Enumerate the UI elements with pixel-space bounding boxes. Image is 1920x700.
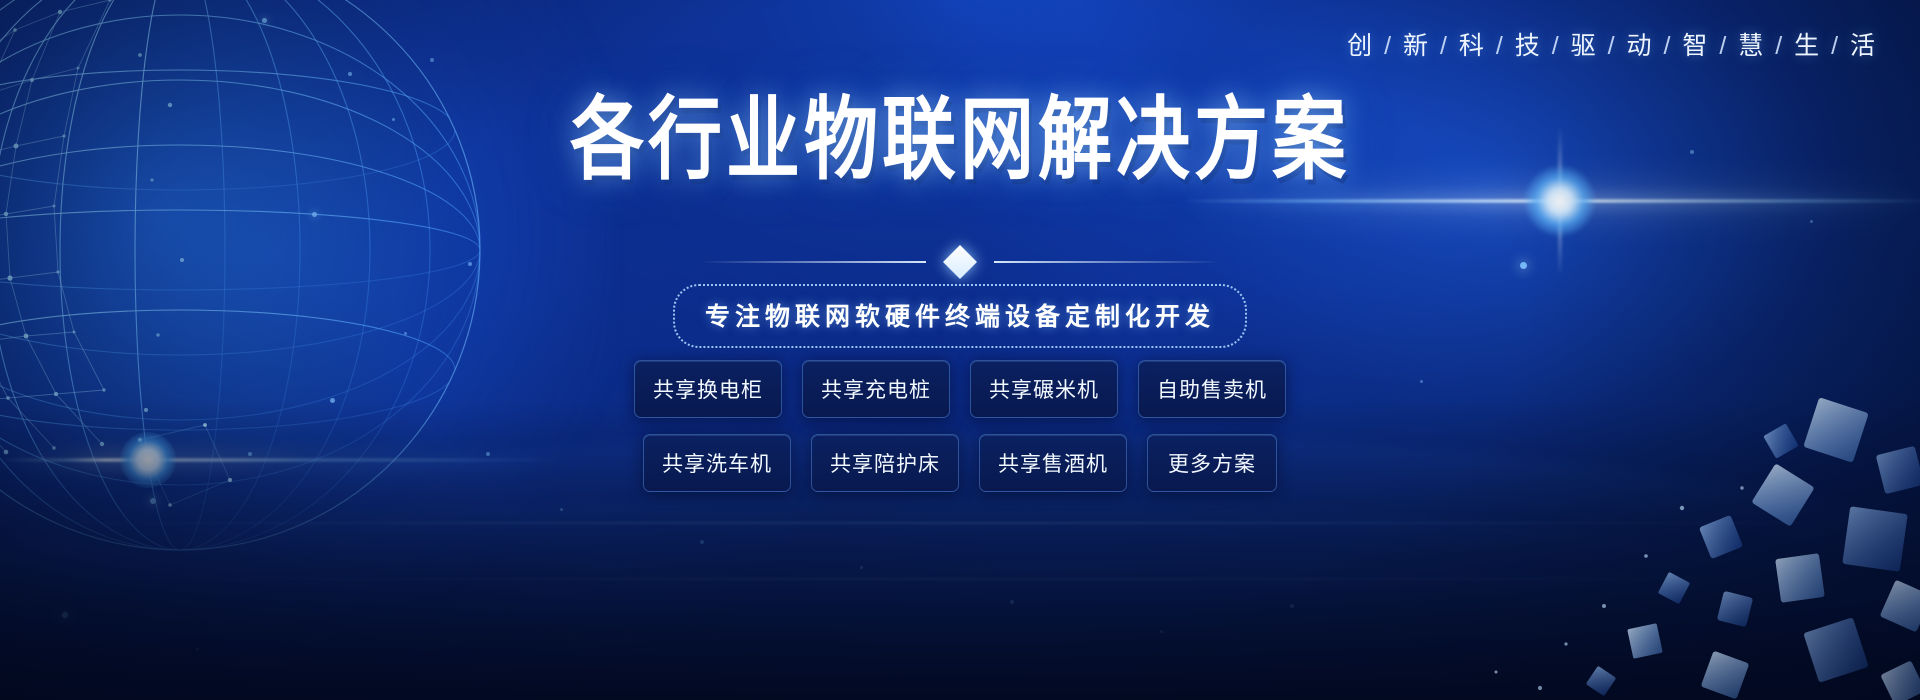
promo-banner: 创 / 新 / 科 / 技 / 驱 / 动 / 智 / 慧 / 生 / 活 各行…: [0, 0, 1920, 700]
tag-row: 共享换电柜 共享充电桩 共享碾米机 自助售卖机: [610, 360, 1310, 418]
tagline-separator: /: [1663, 32, 1671, 60]
tagline-char: 动: [1626, 32, 1652, 60]
tagline-char: 智: [1682, 32, 1708, 60]
tagline-char: 技: [1515, 32, 1541, 60]
tagline-separator: /: [1384, 32, 1392, 60]
tagline-char: 驱: [1571, 32, 1597, 60]
tag-button[interactable]: 更多方案: [1147, 434, 1277, 492]
tagline-separator: /: [1552, 32, 1560, 60]
divider-line-left: [700, 261, 926, 263]
subtitle: 专注物联网软硬件终端设备定制化开发: [673, 284, 1247, 348]
tag-button[interactable]: 自助售卖机: [1138, 360, 1286, 418]
tagline-char: 生: [1794, 32, 1820, 60]
tag-button[interactable]: 共享换电柜: [634, 360, 782, 418]
tag-button[interactable]: 共享充电桩: [802, 360, 950, 418]
divider-line-right: [994, 261, 1220, 263]
tagline-separator: /: [1496, 32, 1504, 60]
tag-button[interactable]: 共享售酒机: [979, 434, 1127, 492]
tag-button[interactable]: 共享洗车机: [643, 434, 791, 492]
tagline-separator: /: [1831, 32, 1839, 60]
tagline: 创 / 新 / 科 / 技 / 驱 / 动 / 智 / 慧 / 生 / 活: [1347, 26, 1876, 62]
banner-content: 创 / 新 / 科 / 技 / 驱 / 动 / 智 / 慧 / 生 / 活 各行…: [0, 0, 1920, 700]
tagline-separator: /: [1719, 32, 1727, 60]
solution-tag-list: 共享换电柜 共享充电桩 共享碾米机 自助售卖机 共享洗车机 共享陪护床 共享售酒…: [610, 360, 1310, 508]
tagline-separator: /: [1608, 32, 1616, 60]
tag-button[interactable]: 共享陪护床: [811, 434, 959, 492]
tagline-char: 慧: [1738, 32, 1764, 60]
tag-row: 共享洗车机 共享陪护床 共享售酒机 更多方案: [610, 434, 1310, 492]
tagline-char: 新: [1403, 32, 1429, 60]
tagline-char: 创: [1347, 32, 1373, 60]
divider: [700, 248, 1220, 276]
page-title: 各行业物联网解决方案: [0, 95, 1920, 169]
tagline-char: 科: [1459, 32, 1485, 60]
headline-text: 各行业物联网解决方案: [570, 95, 1350, 185]
tagline-separator: /: [1775, 32, 1783, 60]
tag-button[interactable]: 共享碾米机: [970, 360, 1118, 418]
diamond-icon: [943, 245, 977, 279]
tagline-char: 活: [1850, 32, 1876, 60]
tagline-separator: /: [1440, 32, 1448, 60]
